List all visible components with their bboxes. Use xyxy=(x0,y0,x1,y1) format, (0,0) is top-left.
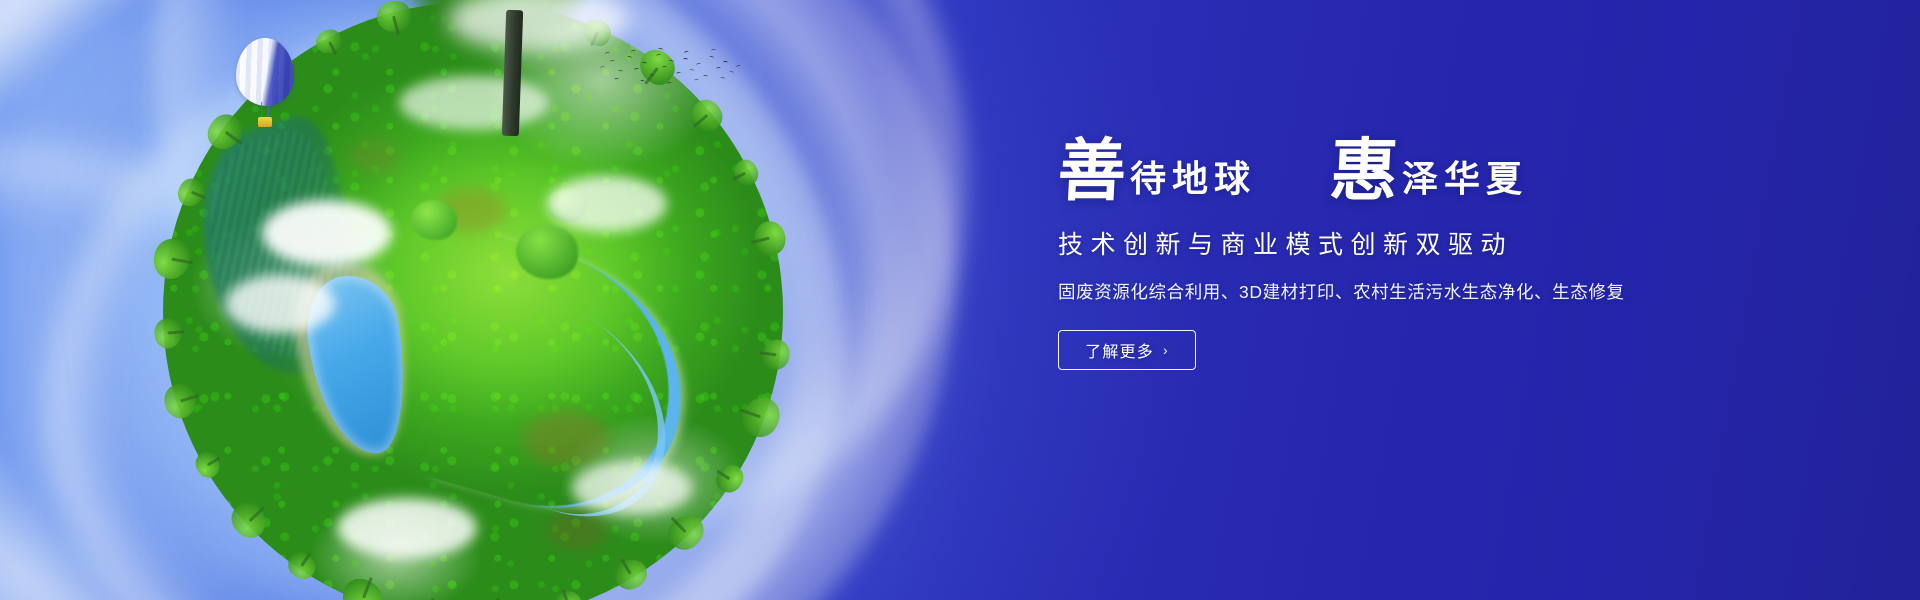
banner-content: 善 待地球 惠 泽华夏 技术创新与商业模式创新双驱动 固废资源化综合利用、3D建… xyxy=(1058,140,1818,370)
headline-phrase-2: 惠 泽华夏 xyxy=(1330,140,1528,203)
balloon-basket xyxy=(258,117,272,127)
headline-phrase-1: 善 待地球 xyxy=(1058,140,1256,203)
hero-banner: 善 待地球 惠 泽华夏 技术创新与商业模式创新双驱动 固废资源化综合利用、3D建… xyxy=(0,0,1920,600)
chevron-right-icon: › xyxy=(1163,342,1169,358)
planet-cloud xyxy=(225,275,335,333)
service-list: 固废资源化综合利用、3D建材打印、农村生活污水生态净化、生态修复 xyxy=(1058,279,1818,304)
hot-air-balloon-icon xyxy=(236,38,296,134)
planet-cloud xyxy=(547,176,667,232)
planet-cloud xyxy=(337,498,477,558)
tagline: 技术创新与商业模式创新双驱动 xyxy=(1058,225,1818,261)
bush xyxy=(411,200,457,240)
balloon-envelope xyxy=(236,38,294,106)
tree-trunk xyxy=(502,10,523,137)
bush xyxy=(516,225,578,279)
learn-more-button[interactable]: 了解更多 › xyxy=(1058,330,1196,370)
headline-char-large-2: 惠 xyxy=(1328,140,1399,203)
headline-char-large-1: 善 xyxy=(1056,140,1127,203)
headline-text-small-1: 待地球 xyxy=(1130,161,1256,203)
headline-text-small-2: 泽华夏 xyxy=(1402,161,1528,203)
bird-flock-icon xyxy=(596,44,746,96)
learn-more-label: 了解更多 xyxy=(1085,338,1154,362)
page-title: 善 待地球 惠 泽华夏 xyxy=(1058,140,1818,203)
balloon-rope xyxy=(261,102,269,118)
planet-cloud xyxy=(572,461,692,515)
tree-icon xyxy=(396,0,626,142)
